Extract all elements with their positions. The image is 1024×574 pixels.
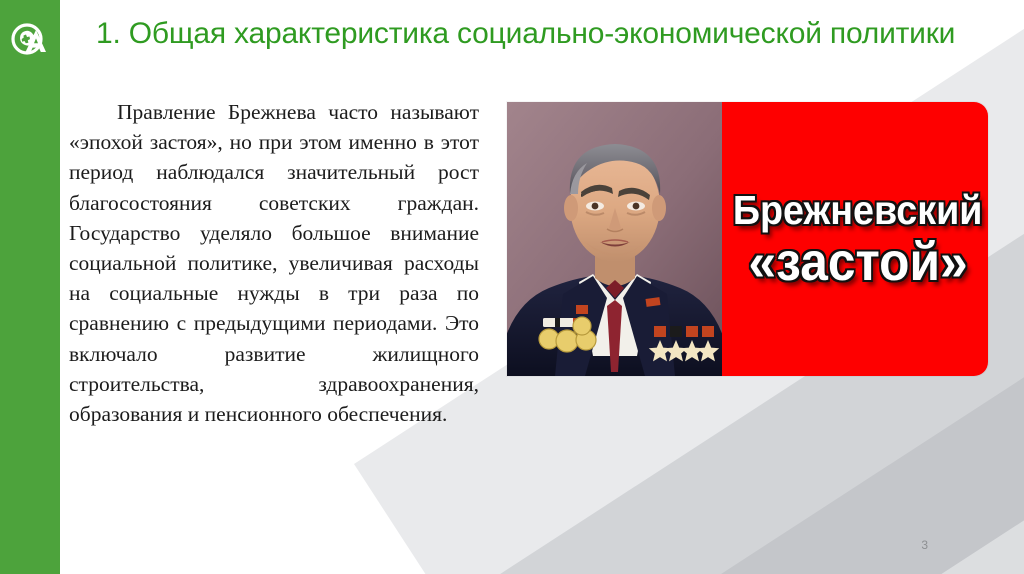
caption-line-1: Брежневский [733, 190, 983, 231]
body-paragraph: Правление Брежнева часто называют «эпохо… [69, 97, 479, 429]
circular-emblem-logo-icon [9, 18, 51, 60]
brezhnev-illustration: Брежневский «застой» [507, 102, 988, 376]
brezhnev-portrait-photo [507, 102, 722, 376]
slide-canvas: 1. Общая характеристика социально-эконом… [0, 0, 1024, 574]
slide-number: 3 [921, 538, 928, 552]
left-green-rail [0, 0, 60, 574]
red-caption-panel: Брежневский «застой» [722, 102, 988, 376]
page-title: 1. Общая характеристика социально-эконом… [96, 17, 996, 51]
caption-line-2: «застой» [748, 235, 967, 289]
